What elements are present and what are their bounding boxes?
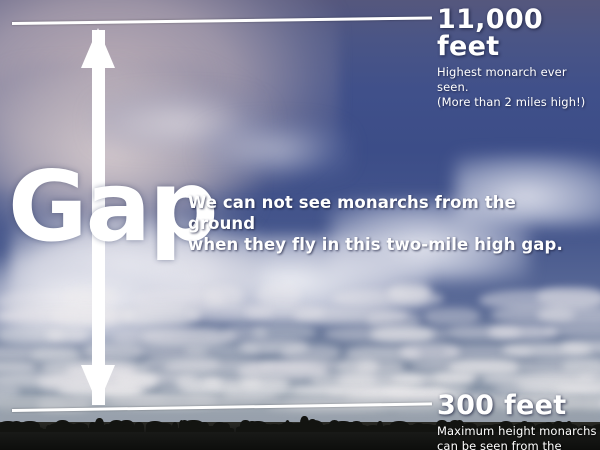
bottom-altitude-value: 300 feet [437,392,600,419]
top-altitude-caption: Highest monarch ever seen. (More than 2 … [437,65,600,111]
bottom-altitude-caption-line-2: can be seen from the ground. [437,439,600,450]
explanatory-text: We can not see monarchs from the ground … [188,192,588,255]
arrow-head-up-icon [81,28,115,68]
explanatory-text-line-1: We can not see monarchs from the ground [188,192,588,234]
bottom-altitude-caption: Maximum height monarchs can be seen from… [437,424,600,450]
bottom-altitude-label: 300 feet Maximum height monarchs can be … [437,392,600,450]
cloud-wisp-mid-upper [200,120,350,175]
infographic-canvas: Gap We can not see monarchs from the gro… [0,0,600,450]
top-altitude-caption-line-2: (More than 2 miles high!) [437,95,600,110]
explanatory-text-line-2: when they fly in this two-mile high gap. [188,234,588,255]
arrow-head-down-icon [81,365,115,405]
top-altitude-value: 11,000 feet [437,6,600,60]
top-altitude-caption-line-1: Highest monarch ever seen. [437,65,600,95]
gap-headline: Gap [8,158,217,255]
top-altitude-label: 11,000 feet Highest monarch ever seen. (… [437,6,600,111]
bottom-altitude-caption-line-1: Maximum height monarchs [437,424,600,439]
